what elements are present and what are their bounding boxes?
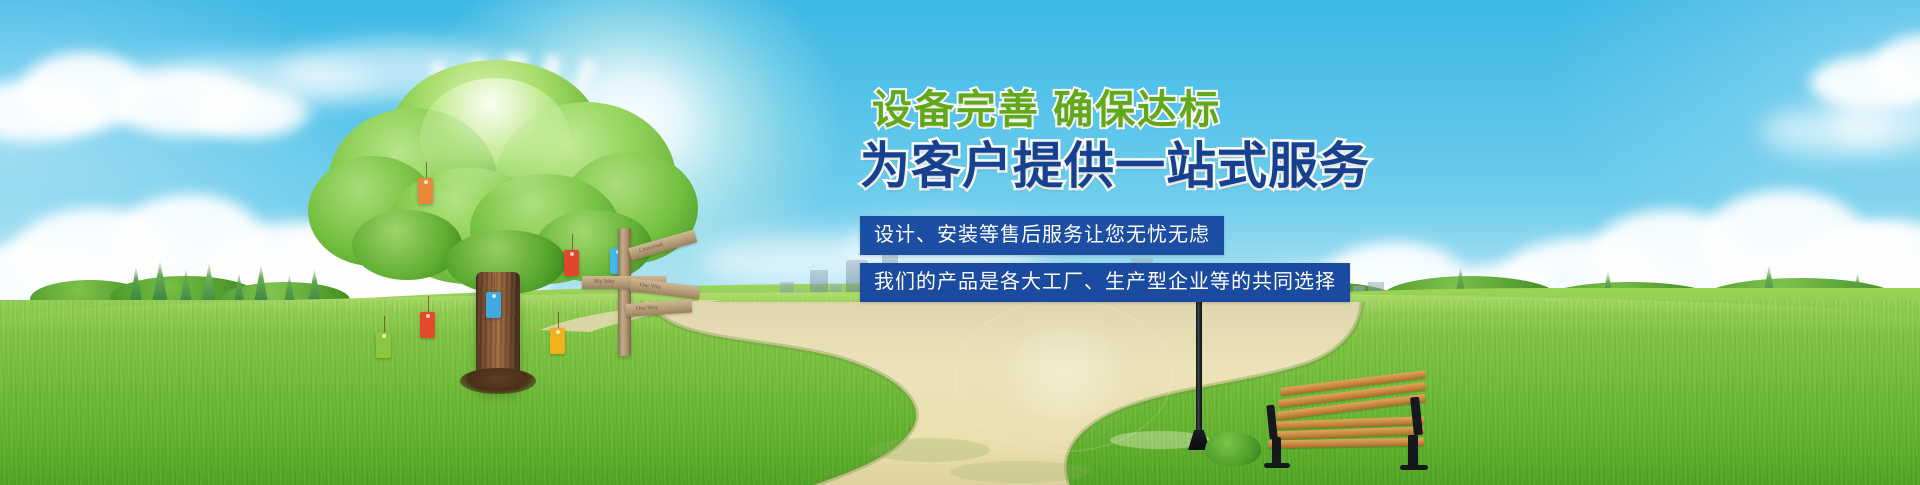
wish-tag-orange-top <box>418 178 433 204</box>
wish-tag-blue-mid <box>486 292 501 318</box>
grass-texture <box>0 300 1920 485</box>
subtitle-bar-1: 设计、安装等售后服务让您无忧无虑 <box>860 216 1224 255</box>
hero-banner: Crossroad My Way Our Way One Way 设备完善 确保… <box>0 0 1920 485</box>
tree-trunk <box>476 272 520 390</box>
sign-arm-our-way: Our Way <box>629 278 700 299</box>
park-bench <box>1262 375 1432 470</box>
banner-copy: 设备完善 确保达标 为客户提供一站式服务 设计、安装等售后服务让您无忧无虑 我们… <box>860 86 1480 310</box>
wish-tag-red <box>420 312 435 338</box>
bench-seat-slat-3 <box>1268 438 1424 449</box>
headline-primary: 设备完善 确保达标 <box>872 86 1480 134</box>
wish-tag-green <box>376 332 391 358</box>
wish-tag-red-right <box>564 250 579 276</box>
headline-secondary: 为客户提供一站式服务 <box>860 136 1480 196</box>
sign-arm-one-way: One Way <box>626 299 693 317</box>
bench-leg-foot-right <box>1400 465 1428 470</box>
lamp-pole <box>1196 288 1202 436</box>
subtitle-bar-2: 我们的产品是各大工厂、生产型企业等的共同选择 <box>860 263 1350 302</box>
bench-leg-foot-left <box>1264 463 1290 468</box>
bench-arm-left <box>1266 405 1278 440</box>
signpost: Crossroad My Way Our Way One Way <box>596 228 716 358</box>
sign-arm-crossroad: Crossroad <box>628 230 697 261</box>
lamp-bush <box>1205 432 1261 466</box>
bench-leg-right <box>1408 435 1418 469</box>
wish-tag-yellow <box>550 328 565 354</box>
